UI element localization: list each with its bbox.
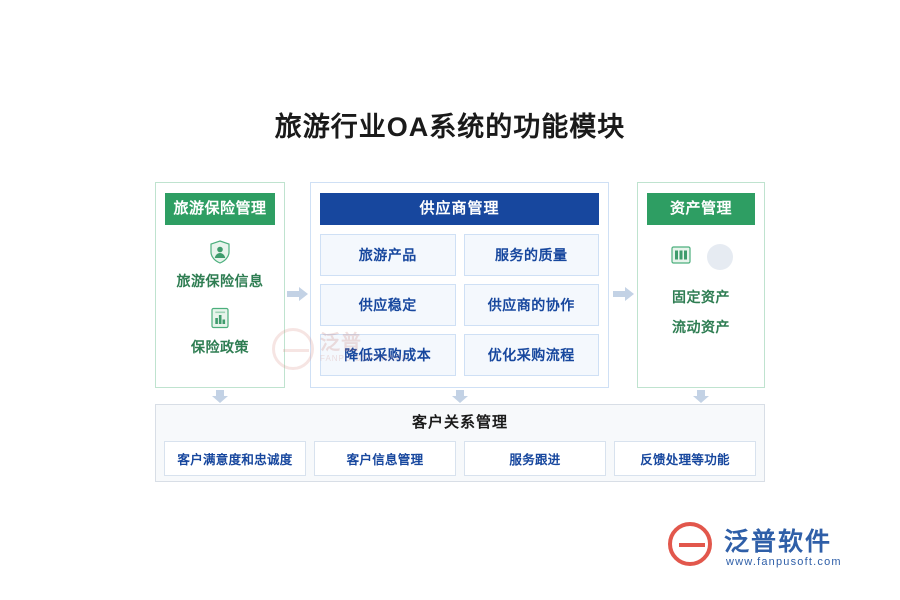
supplier-cell[interactable]: 服务的质量 [464,234,600,276]
brand-logo: 泛普软件 www.fanpusoft.com [668,520,878,576]
page-title: 旅游行业OA系统的功能模块 [0,105,900,144]
crm-title: 客户关系管理 [164,413,756,433]
arrow-asset-to-crm [692,390,710,404]
insurance-policy-item[interactable]: 保险政策 [165,303,275,357]
crm-panel: 客户关系管理 客户满意度和忠诚度 客户信息管理 服务跟进 反馈处理等功能 [155,404,765,482]
asset-management-panel: 资产管理 固定资产 流动资产 [637,182,765,388]
arrow-insurance-to-supplier [287,287,309,301]
insurance-policy-label: 保险政策 [165,337,275,357]
document-chart-icon [165,303,275,333]
insurance-management-header: 旅游保险管理 [165,193,275,225]
asset-management-header: 资产管理 [647,193,755,225]
supplier-cell[interactable]: 降低采购成本 [320,334,456,376]
arrow-supplier-to-asset [613,287,635,301]
arrow-insurance-to-crm [211,390,229,404]
asset-decoration-circle [707,244,733,270]
supplier-cell[interactable]: 供应商的协作 [464,284,600,326]
insurance-info-label: 旅游保险信息 [165,271,275,291]
supplier-cell[interactable]: 旅游产品 [320,234,456,276]
supplier-cell[interactable]: 优化采购流程 [464,334,600,376]
current-asset-label[interactable]: 流动资产 [647,317,755,337]
crm-cell[interactable]: 反馈处理等功能 [614,441,756,476]
asset-box-icon [669,243,693,272]
supplier-management-panel: 供应商管理 旅游产品 服务的质量 供应稳定 供应商的协作 降低采购成本 优化采购… [310,182,609,388]
crm-cell[interactable]: 服务跟进 [464,441,606,476]
crm-cell[interactable]: 客户信息管理 [314,441,456,476]
supplier-cell-grid: 旅游产品 服务的质量 供应稳定 供应商的协作 降低采购成本 优化采购流程 [320,234,599,376]
crm-cell[interactable]: 客户满意度和忠诚度 [164,441,306,476]
person-shield-icon [165,237,275,267]
insurance-info-item[interactable]: 旅游保险信息 [165,237,275,291]
insurance-management-panel: 旅游保险管理 旅游保险信息 保险政策 [155,182,285,388]
asset-icon-row [647,239,755,275]
fixed-asset-label[interactable]: 固定资产 [647,287,755,307]
arrow-supplier-to-crm [451,390,469,404]
brand-mark-icon [668,522,712,566]
brand-name-cn: 泛普软件 [724,522,832,558]
supplier-cell[interactable]: 供应稳定 [320,284,456,326]
brand-url: www.fanpusoft.com [726,556,842,568]
supplier-management-header: 供应商管理 [320,193,599,225]
crm-cell-row: 客户满意度和忠诚度 客户信息管理 服务跟进 反馈处理等功能 [164,441,756,476]
